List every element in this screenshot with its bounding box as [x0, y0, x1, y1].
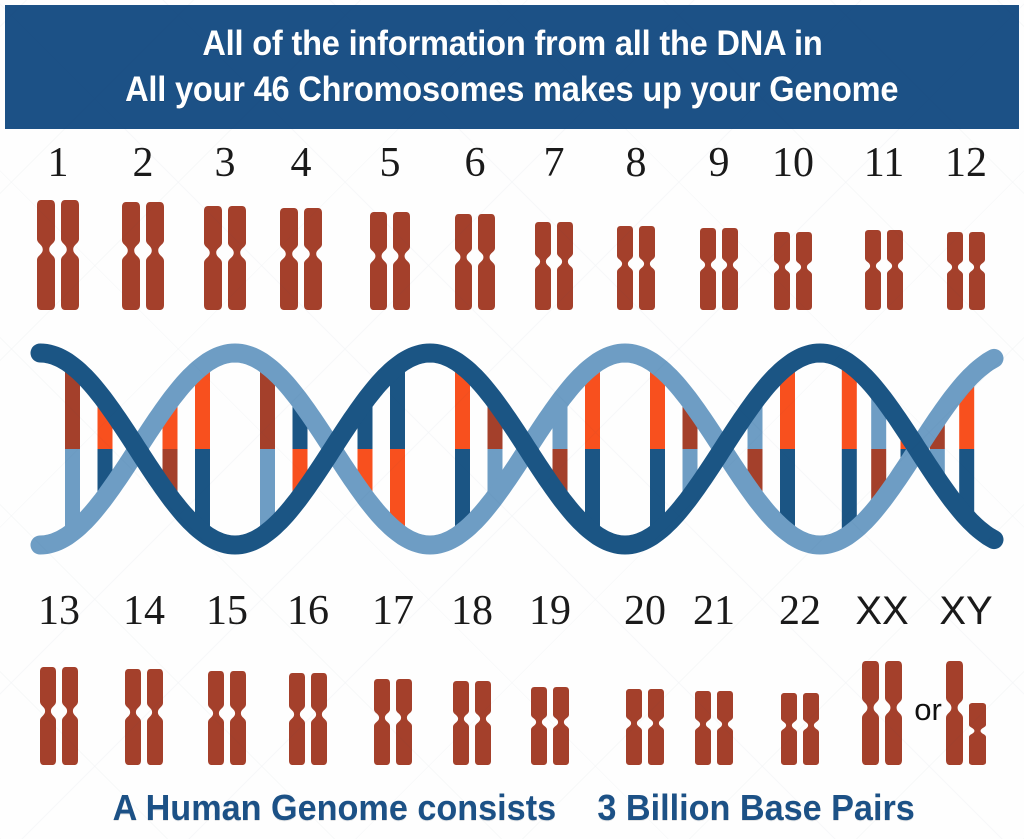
footer-caption: A Human Genome consists 3 Billion Base P…	[0, 783, 1024, 833]
chromosome-icon	[695, 691, 711, 765]
chromosome-icon	[230, 671, 246, 765]
chromosome-icon	[62, 667, 78, 765]
chromosome-icon	[396, 679, 412, 765]
chromosome-row-bottom	[0, 645, 1024, 765]
chromosome-icon	[122, 202, 140, 310]
chromosome-icon	[781, 693, 797, 765]
chromosome-pair-12	[947, 232, 985, 310]
chromosome-label-18: 18	[451, 588, 493, 634]
chromosome-pair-15	[208, 671, 246, 765]
chromosome-label-22: 22	[779, 588, 821, 634]
chromosome-icon	[125, 669, 141, 765]
chromosome-icon	[717, 691, 733, 765]
chromosome-pair-5	[370, 212, 410, 310]
chromosome-icon	[969, 703, 986, 765]
footer-left-text: A Human Genome consists	[112, 787, 555, 829]
chromosome-pair-16	[289, 673, 327, 765]
chromosome-icon	[204, 206, 222, 310]
chromosome-label-20: 20	[624, 588, 666, 634]
chromosome-label-8: 8	[626, 140, 647, 186]
chromosome-icon	[374, 679, 390, 765]
chromosome-icon	[370, 212, 387, 310]
chromosome-label-21: 21	[693, 588, 735, 634]
chromosome-label-5: 5	[380, 140, 401, 186]
chromosome-number-row-top: 123456789101112	[0, 140, 1024, 186]
chromosome-number-row-bottom: 13141516171819202122XXXY	[0, 588, 1024, 634]
chromosome-icon	[311, 673, 327, 765]
chromosome-icon	[774, 232, 790, 310]
chromosome-pair-6	[455, 214, 495, 310]
chromosome-row-top	[0, 190, 1024, 310]
chromosome-pair-10	[774, 232, 812, 310]
chromosome-icon	[40, 667, 56, 765]
chromosome-icon	[61, 200, 79, 310]
chromosome-label-13: 13	[38, 588, 80, 634]
chromosome-label-10: 10	[772, 140, 814, 186]
chromosome-pair-8	[617, 226, 655, 310]
chromosome-label-7: 7	[544, 140, 565, 186]
chromosome-icon	[147, 669, 163, 765]
chromosome-icon	[865, 230, 881, 310]
chromosome-pair-17	[374, 679, 412, 765]
chromosome-pair-18	[453, 681, 491, 765]
chromosome-pair-22	[781, 693, 819, 765]
chromosome-pair-4	[280, 208, 322, 310]
chromosome-icon	[228, 206, 246, 310]
chromosome-pair-11	[865, 230, 903, 310]
chromosome-icon	[393, 212, 410, 310]
chromosome-icon	[280, 208, 298, 310]
chromosome-label-xx: XX	[855, 588, 908, 634]
chromosome-label-11: 11	[864, 140, 904, 186]
chromosome-icon	[617, 226, 633, 310]
chromosome-pair-14	[125, 669, 163, 765]
chromosome-pair-xx	[862, 661, 902, 765]
chromosome-label-15: 15	[206, 588, 248, 634]
chromosome-icon	[557, 222, 573, 310]
chromosome-pair-xy	[946, 661, 986, 765]
chromosome-label-6: 6	[465, 140, 486, 186]
chromosome-icon	[969, 232, 985, 310]
chromosome-icon	[722, 228, 738, 310]
chromosome-icon	[455, 214, 472, 310]
chromosome-pair-21	[695, 691, 733, 765]
chromosome-label-3: 3	[215, 140, 236, 186]
chromosome-icon	[304, 208, 322, 310]
chromosome-label-2: 2	[133, 140, 154, 186]
chromosome-label-12: 12	[945, 140, 987, 186]
chromosome-icon	[535, 222, 551, 310]
chromosome-icon	[803, 693, 819, 765]
chromosome-label-1: 1	[48, 140, 69, 186]
chromosome-icon	[700, 228, 716, 310]
chromosome-icon	[887, 230, 903, 310]
chromosome-label-9: 9	[709, 140, 730, 186]
chromosome-label-14: 14	[123, 588, 165, 634]
chromosome-icon	[453, 681, 469, 765]
chromosome-icon	[862, 661, 879, 765]
chromosome-icon	[531, 687, 547, 765]
chromosome-icon	[289, 673, 305, 765]
chromosome-label-17: 17	[372, 588, 414, 634]
chromosome-pair-20	[626, 689, 664, 765]
chromosome-icon	[648, 689, 664, 765]
chromosome-icon	[947, 232, 963, 310]
header-line-1: All of the information from all the DNA …	[202, 21, 822, 67]
chromosome-icon	[885, 661, 902, 765]
chromosome-icon	[796, 232, 812, 310]
chromosome-label-xy: XY	[939, 588, 992, 634]
chromosome-icon	[946, 661, 963, 765]
chromosome-icon	[553, 687, 569, 765]
footer-right-text: 3 Billion Base Pairs	[598, 787, 915, 829]
chromosome-pair-1	[37, 200, 79, 310]
chromosome-icon	[475, 681, 491, 765]
chromosome-label-19: 19	[529, 588, 571, 634]
chromosome-icon	[478, 214, 495, 310]
chromosome-pair-3	[204, 206, 246, 310]
chromosome-icon	[146, 202, 164, 310]
chromosome-label-4: 4	[291, 140, 312, 186]
chromosome-pair-2	[122, 202, 164, 310]
chromosome-pair-7	[535, 222, 573, 310]
infographic-canvas: All of the information from all the DNA …	[0, 0, 1024, 839]
chromosome-label-16: 16	[287, 588, 329, 634]
chromosome-icon	[639, 226, 655, 310]
chromosome-pair-13	[40, 667, 78, 765]
chromosome-pair-9	[700, 228, 738, 310]
header-line-2: All your 46 Chromosomes makes up your Ge…	[125, 67, 898, 113]
chromosome-icon	[208, 671, 224, 765]
chromosome-icon	[626, 689, 642, 765]
header-banner: All of the information from all the DNA …	[5, 5, 1019, 129]
dna-double-helix-icon	[30, 318, 1006, 580]
dna-helix-svg	[30, 318, 1006, 580]
sex-chromosome-separator-label: or	[914, 692, 942, 728]
chromosome-pair-19	[531, 687, 569, 765]
chromosome-icon	[37, 200, 55, 310]
